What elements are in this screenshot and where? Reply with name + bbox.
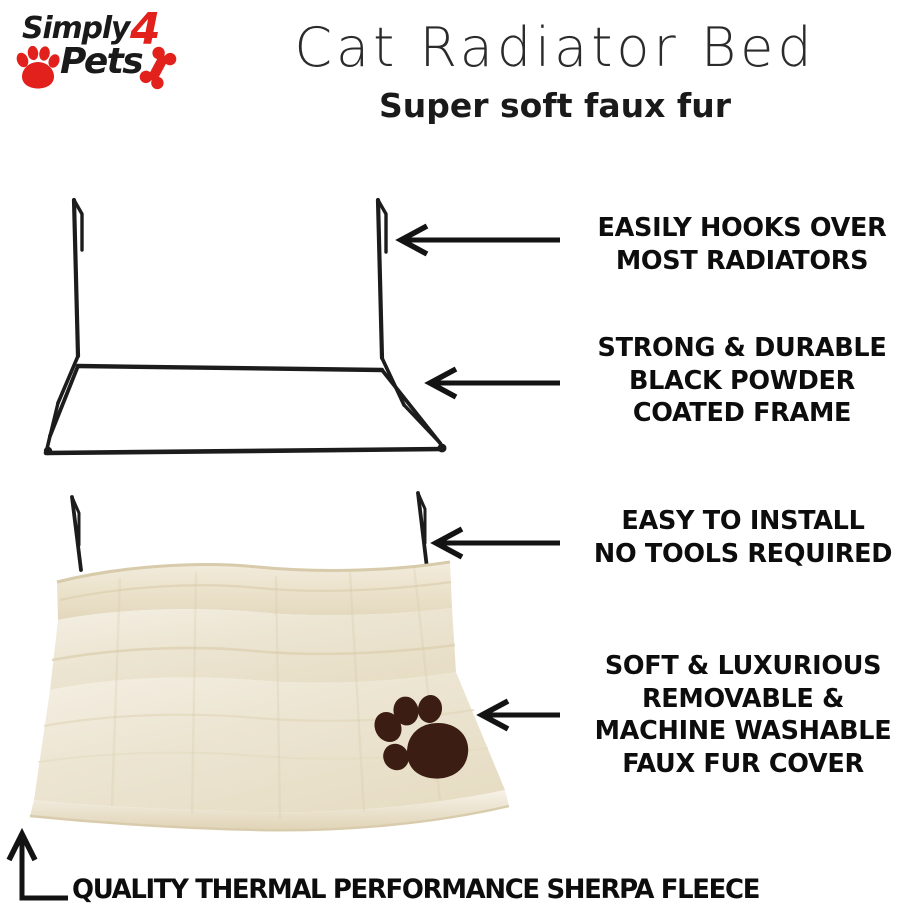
callout-line: COATED FRAME	[567, 397, 917, 430]
callout-line: EASILY HOOKS OVER	[567, 212, 917, 245]
callout-easy-to-install: EASY TO INSTALL NO TOOLS REQUIRED	[567, 505, 919, 570]
product-infographic: Simply 4 Pets Cat Radiator Bed Super sof…	[0, 0, 920, 924]
arrow-to-bed-hook	[436, 529, 560, 557]
paw-print-icon	[14, 46, 60, 90]
brand-logo: Simply 4 Pets	[8, 12, 193, 92]
faux-fur-bed-cover	[30, 493, 509, 830]
black-powder-coated-wire-frame	[44, 200, 447, 455]
page-subtitle: Super soft faux fur	[190, 88, 920, 124]
callout-line: MACHINE WASHABLE	[567, 715, 919, 748]
callout-line: BLACK POWDER	[567, 365, 917, 398]
callout-strong-durable-frame: STRONG & DURABLE BLACK POWDER COATED FRA…	[567, 332, 917, 430]
logo-text-pets: Pets	[60, 44, 142, 80]
product-illustration-layer	[0, 0, 920, 924]
arrow-to-fur-cover	[482, 701, 560, 729]
callout-soft-luxurious-cover: SOFT & LUXURIOUS REMOVABLE & MACHINE WAS…	[567, 650, 919, 781]
arrow-to-hook	[401, 226, 560, 254]
callout-line: NO TOOLS REQUIRED	[567, 538, 919, 571]
paw-print-icon	[370, 693, 469, 778]
callout-easily-hooks-over: EASILY HOOKS OVER MOST RADIATORS	[567, 212, 917, 277]
arrow-to-sherpa-fleece	[9, 834, 68, 898]
callout-line: SOFT & LUXURIOUS	[567, 650, 919, 683]
bottom-caption-sherpa-fleece: QUALITY THERMAL PERFORMANCE SHERPA FLEEC…	[72, 876, 886, 903]
callout-line: REMOVABLE &	[567, 683, 919, 716]
page-title: Cat Radiator Bed	[190, 20, 920, 77]
callout-line: STRONG & DURABLE	[567, 332, 917, 365]
bone-icon	[139, 46, 177, 90]
arrow-to-frame	[430, 369, 560, 397]
callout-line: EASY TO INSTALL	[567, 505, 919, 538]
logo-text-simply: Simply	[22, 14, 129, 44]
callout-line: MOST RADIATORS	[567, 245, 917, 278]
callout-line: FAUX FUR COVER	[567, 748, 919, 781]
